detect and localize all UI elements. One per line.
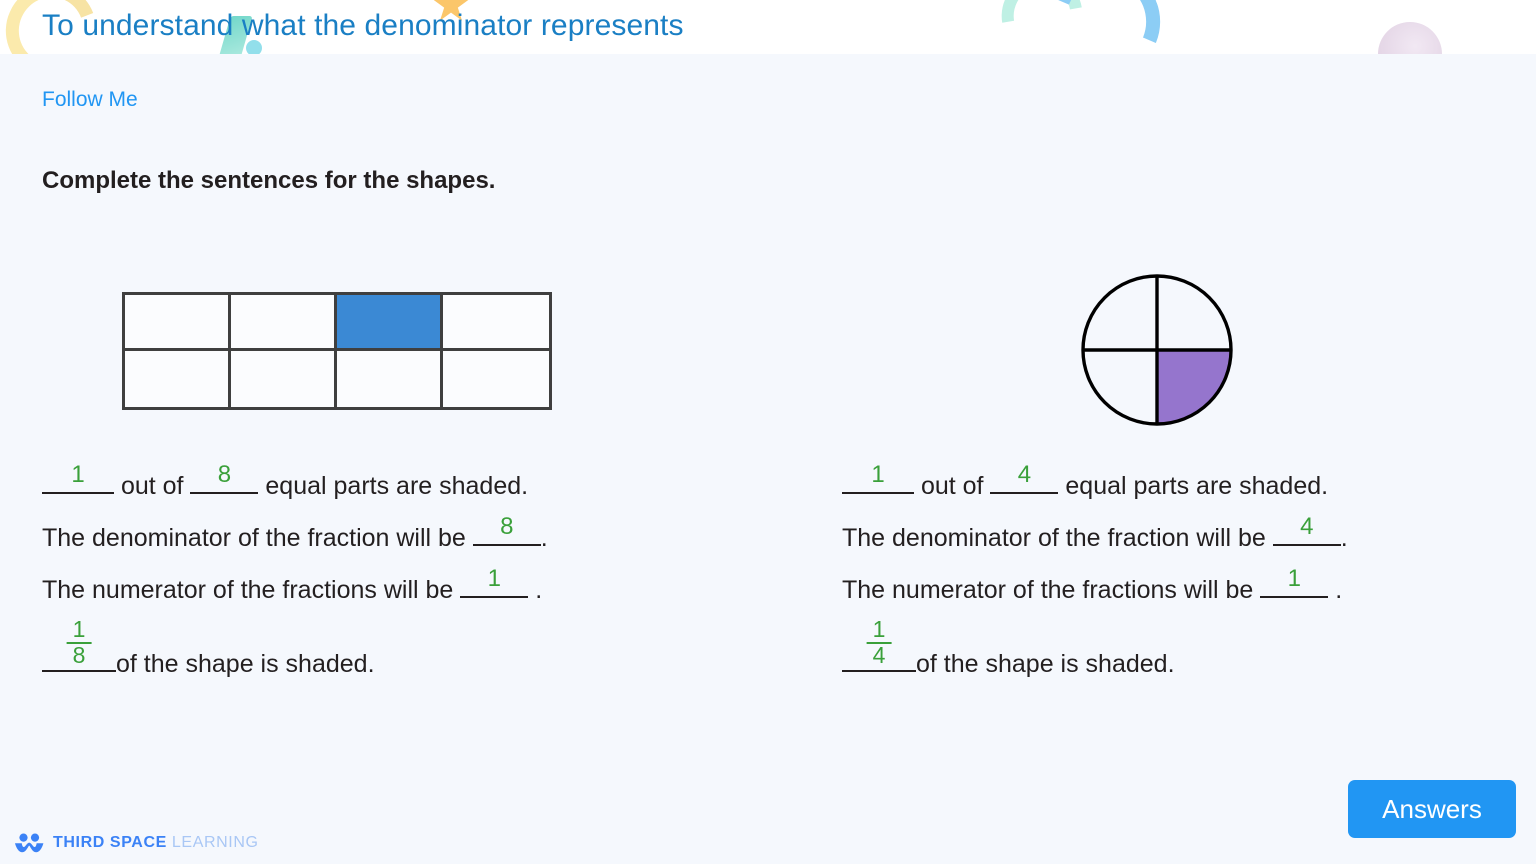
answer-value: 1 [71, 461, 84, 489]
sentence-line-1: 1 out of 8 equal parts are shaded. [42, 472, 802, 524]
sentence-line-3: The numerator of the fractions will be 1… [42, 576, 802, 628]
header-bar: To understand what the denominator repre… [0, 0, 1536, 54]
answer-value: 1 [488, 565, 501, 593]
grid-cell [337, 351, 443, 407]
grid-cell [125, 351, 231, 407]
blank-answer[interactable]: 1 [42, 492, 114, 494]
static-text: equal parts are shaded. [258, 472, 528, 500]
answer-value: 8 [218, 461, 231, 489]
fraction-answer: 14 [867, 618, 892, 668]
fraction-answer: 18 [67, 618, 92, 668]
page-title: To understand what the denominator repre… [42, 9, 684, 43]
static-text: out of [114, 472, 190, 500]
instruction-heading: Complete the sentences for the shapes. [42, 167, 495, 195]
static-text: . [1341, 524, 1348, 552]
two-dots-smile-icon [14, 833, 44, 853]
static-text: The numerator of the fractions will be [42, 576, 460, 604]
circle-quarters-shape [1079, 272, 1235, 428]
blank-answer[interactable]: 1 [1260, 596, 1328, 598]
blank-answer[interactable]: 4 [990, 492, 1058, 494]
blank-answer[interactable]: 1 [842, 492, 914, 494]
answer-value: 1 [871, 461, 884, 489]
blank-answer[interactable]: 4 [1273, 544, 1341, 546]
answer-value: 4 [1300, 513, 1313, 541]
fraction-denominator: 4 [867, 644, 892, 668]
blank-answer[interactable]: 8 [473, 544, 541, 546]
sentence-line-2: The denominator of the fraction will be … [842, 524, 1536, 576]
static-text: . [1328, 576, 1342, 604]
blank-answer-fraction[interactable]: 18 [42, 670, 116, 672]
static-text: . [528, 576, 542, 604]
grid-cell [125, 295, 231, 351]
footer-brand: THIRD SPACE [53, 834, 167, 851]
grid-cell [443, 351, 549, 407]
static-text: out of [914, 472, 990, 500]
fraction-numerator: 1 [867, 618, 892, 644]
grid-cell [231, 351, 337, 407]
sentence-column-left: 1 out of 8 equal parts are shaded. The d… [42, 472, 802, 708]
section-label-follow-me: Follow Me [42, 88, 138, 112]
sentence-column-right: 1 out of 4 equal parts are shaded. The d… [842, 472, 1536, 708]
pink-circle-decoration [1378, 22, 1442, 54]
grid-cell-shaded [337, 295, 443, 351]
footer-suffix: LEARNING [172, 834, 259, 851]
static-text: . [541, 524, 548, 552]
static-text: The numerator of the fractions will be [842, 576, 1260, 604]
static-text: of the shape is shaded. [116, 650, 375, 678]
footer-logo: THIRD SPACE LEARNING [14, 833, 259, 853]
static-text: equal parts are shaded. [1058, 472, 1328, 500]
sentence-line-2: The denominator of the fraction will be … [42, 524, 802, 576]
grid-cell [443, 295, 549, 351]
sentence-line-4: 18of the shape is shaded. [42, 628, 802, 708]
grid-cell [231, 295, 337, 351]
static-text: The denominator of the fraction will be [42, 524, 473, 552]
rectangle-grid-shape [122, 292, 552, 410]
footer-logo-text: THIRD SPACE LEARNING [53, 834, 259, 852]
answer-value: 4 [1018, 461, 1031, 489]
fraction-numerator: 1 [67, 618, 92, 644]
blank-answer[interactable]: 8 [190, 492, 258, 494]
blank-answer[interactable]: 1 [460, 596, 528, 598]
blue-arc-decoration [1035, 0, 1176, 54]
answer-value: 8 [500, 513, 513, 541]
sentence-line-3: The numerator of the fractions will be 1… [842, 576, 1536, 628]
answers-button[interactable]: Answers [1348, 780, 1516, 838]
blank-answer-fraction[interactable]: 14 [842, 670, 916, 672]
mint-arc-decoration [986, 0, 1099, 54]
static-text: The denominator of the fraction will be [842, 524, 1273, 552]
fraction-denominator: 8 [67, 644, 92, 668]
answer-value: 1 [1288, 565, 1301, 593]
sentence-line-1: 1 out of 4 equal parts are shaded. [842, 472, 1536, 524]
sentence-line-4: 14of the shape is shaded. [842, 628, 1536, 708]
static-text: of the shape is shaded. [916, 650, 1175, 678]
